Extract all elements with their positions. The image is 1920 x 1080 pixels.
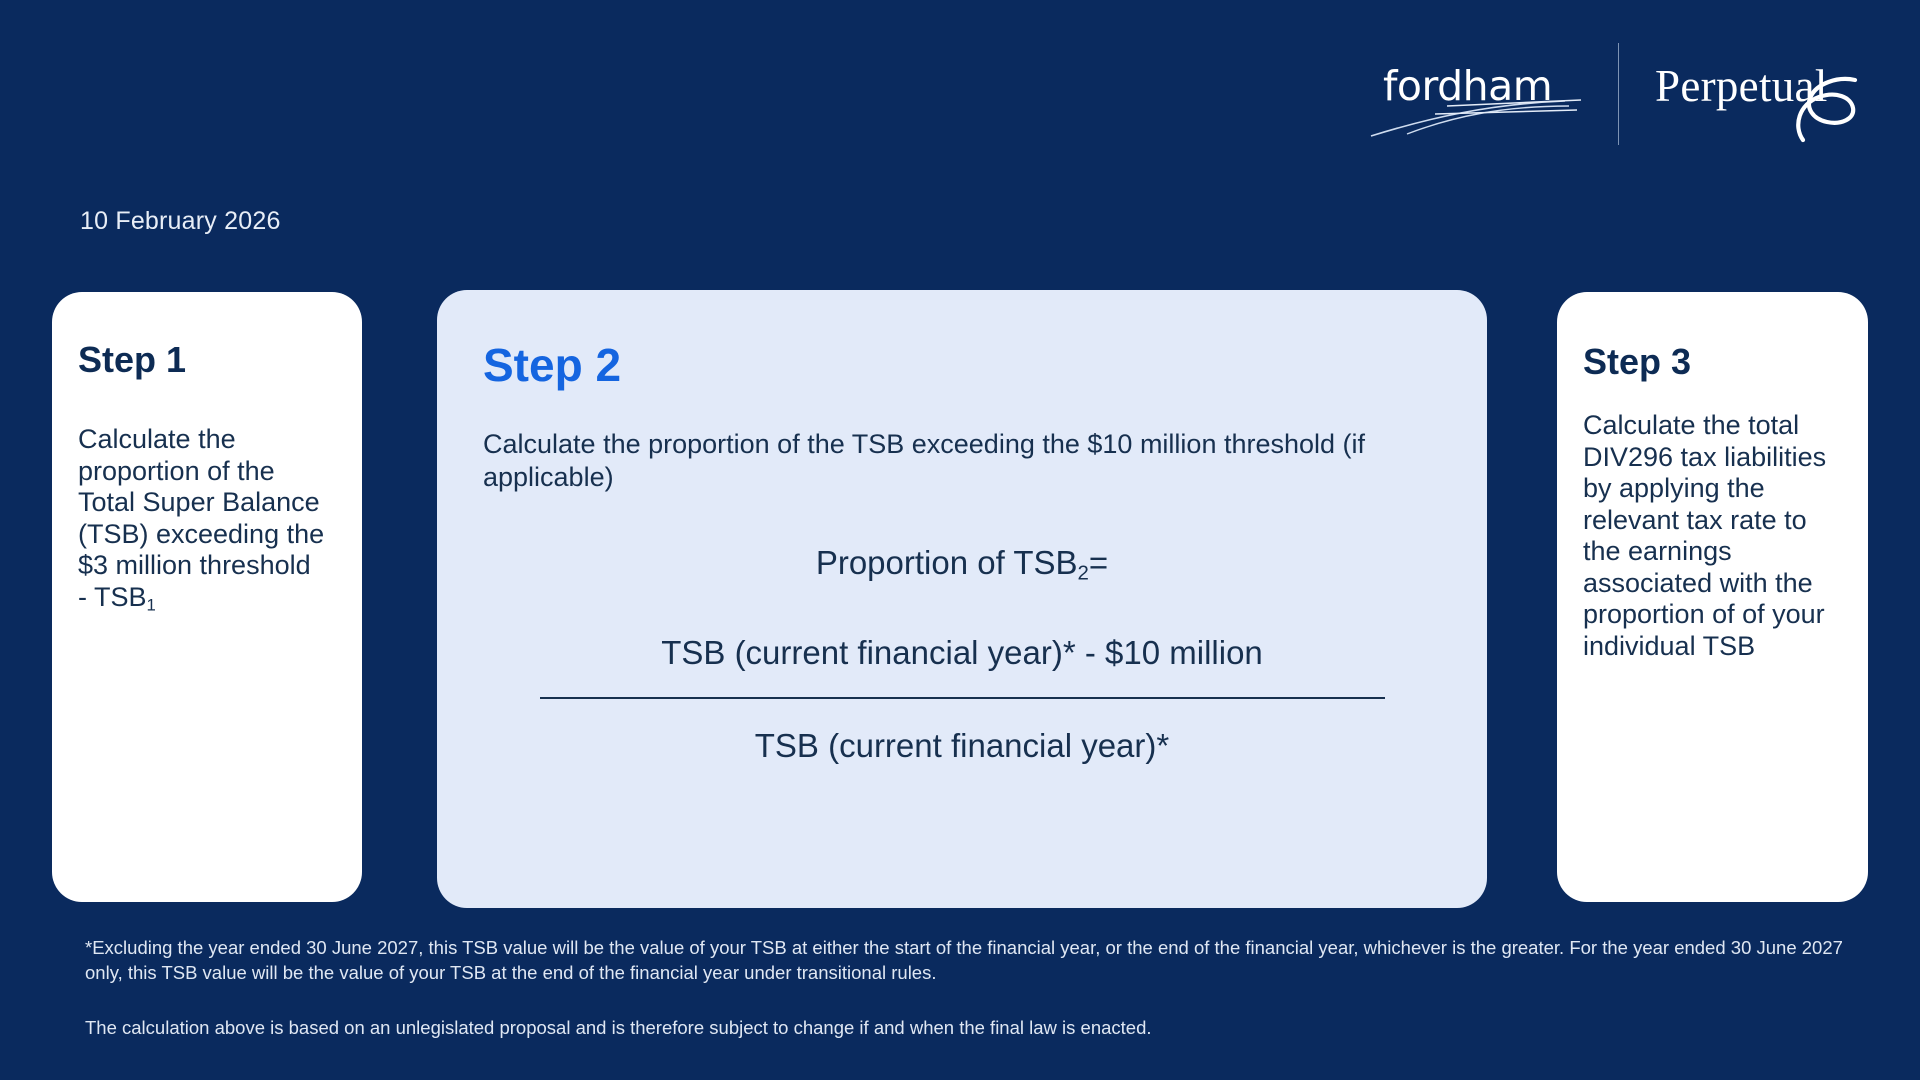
step-1-title: Step 1 (78, 342, 336, 378)
formula-denominator: TSB (current financial year)* (483, 729, 1441, 762)
formula-equals-sign: = (1089, 544, 1108, 581)
step-2-body: Calculate the proportion of the TSB exce… (483, 428, 1441, 494)
footnotes: *Excluding the year ended 30 June 2027, … (85, 936, 1845, 1040)
step-3-card: Step 3 Calculate the total DIV296 tax li… (1557, 292, 1868, 902)
proportion-formula: Proportion of TSB2= TSB (current financi… (483, 546, 1441, 762)
step-3-title: Step 3 (1583, 344, 1842, 380)
step-1-body: Calculate the proportion of the Total Su… (78, 424, 336, 615)
formula-fraction: TSB (current financial year)* - $10 mill… (483, 636, 1441, 762)
formula-left-hand-side: Proportion of TSB2= (483, 546, 1441, 584)
step-2-title: Step 2 (483, 342, 1441, 388)
footnote-asterisk-note: *Excluding the year ended 30 June 2027, … (85, 936, 1845, 986)
fordham-swoosh-icon (1369, 44, 1584, 144)
perpetual-flourish-icon (1789, 70, 1871, 144)
step-3-body: Calculate the total DIV296 tax liabiliti… (1583, 410, 1842, 663)
fordham-logo: fordham (1369, 44, 1584, 144)
step-1-body-text: Calculate the proportion of the Total Su… (78, 424, 324, 612)
logo-divider (1618, 43, 1619, 145)
date-label: 10 February 2026 (80, 207, 281, 236)
formula-numerator: TSB (current financial year)* - $10 mill… (483, 636, 1441, 669)
step-1-subscript: 1 (147, 596, 156, 615)
step-2-card: Step 2 Calculate the proportion of the T… (437, 290, 1487, 908)
fraction-bar (540, 697, 1385, 699)
brand-logo-bar: fordham Perpetual (1369, 40, 1865, 148)
formula-lhs-text: Proportion of TSB (816, 544, 1078, 581)
formula-lhs-subscript: 2 (1078, 562, 1089, 585)
step-1-card: Step 1 Calculate the proportion of the T… (52, 292, 362, 902)
perpetual-logo: Perpetual (1655, 42, 1865, 146)
footnote-disclaimer: The calculation above is based on an unl… (85, 1016, 1845, 1041)
